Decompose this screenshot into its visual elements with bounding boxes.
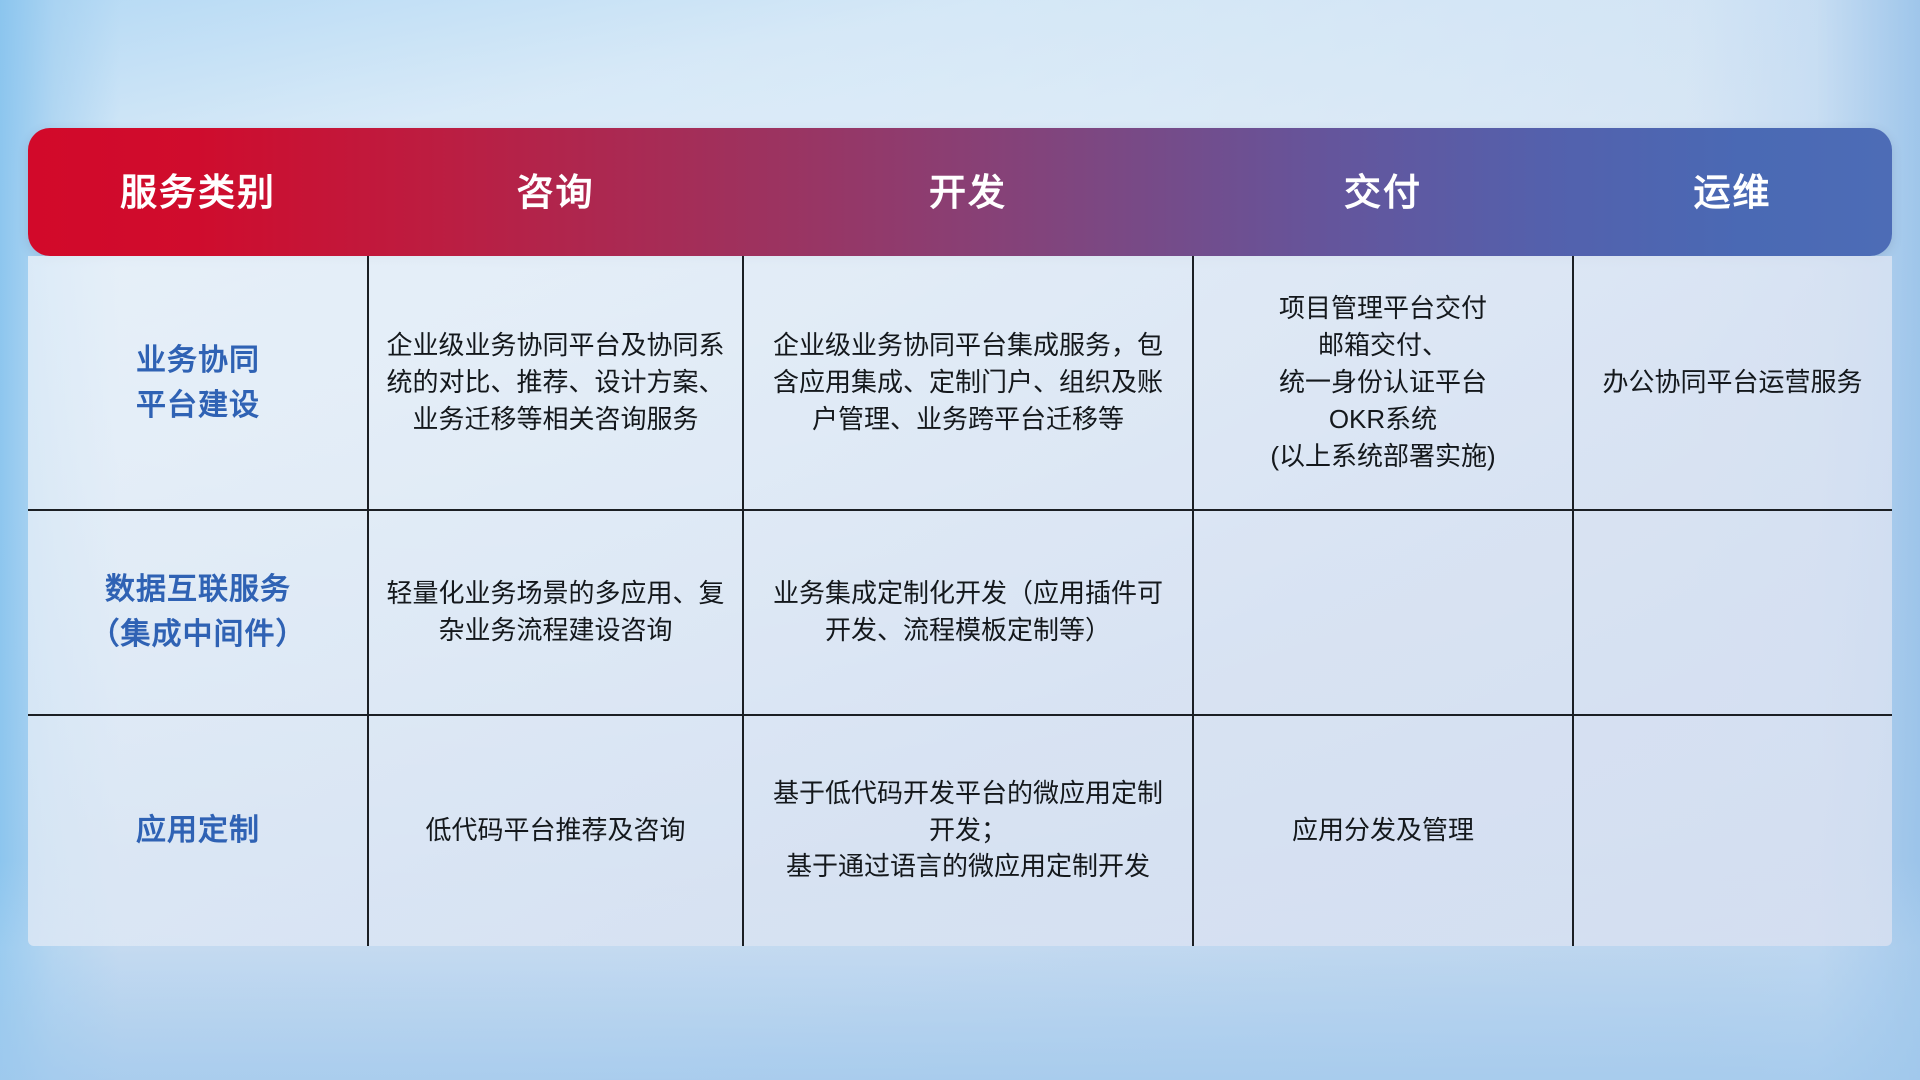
row-label-data-interconnect: 数据互联服务 （集成中间件） [28,509,368,714]
cell-r2-development: 业务集成定制化开发（应用插件可开发、流程模板定制等） [743,509,1193,714]
table-row: 业务协同 平台建设 企业级业务协同平台及协同系统的对比、推荐、设计方案、业务迁移… [28,256,1892,509]
service-matrix-table: 服务类别 咨询 开发 交付 运维 业务协同 平台建设 企业级业务协同平台及协同系… [28,128,1892,948]
cell-r3-consulting: 低代码平台推荐及咨询 [368,714,743,946]
table-row: 应用定制 低代码平台推荐及咨询 基于低代码开发平台的微应用定制开发； 基于通过语… [28,714,1892,946]
cell-r2-consulting: 轻量化业务场景的多应用、复杂业务流程建设咨询 [368,509,743,714]
cell-r3-development: 基于低代码开发平台的微应用定制开发； 基于通过语言的微应用定制开发 [743,714,1193,946]
cell-r1-delivery: 项目管理平台交付 邮箱交付、 统一身份认证平台 OKR系统 (以上系统部署实施) [1193,256,1573,509]
cell-r1-consulting: 企业级业务协同平台及协同系统的对比、推荐、设计方案、业务迁移等相关咨询服务 [368,256,743,509]
column-header-development: 开发 [743,128,1193,256]
column-header-delivery: 交付 [1193,128,1573,256]
cell-r3-delivery: 应用分发及管理 [1193,714,1573,946]
row-label-app-customization: 应用定制 [28,714,368,946]
cell-r2-operations [1573,509,1892,714]
table-body: 业务协同 平台建设 企业级业务协同平台及协同系统的对比、推荐、设计方案、业务迁移… [28,256,1892,946]
table-header-row: 服务类别 咨询 开发 交付 运维 [28,128,1892,256]
cell-r1-operations: 办公协同平台运营服务 [1573,256,1892,509]
table-row: 数据互联服务 （集成中间件） 轻量化业务场景的多应用、复杂业务流程建设咨询 业务… [28,509,1892,714]
cell-r1-development: 企业级业务协同平台集成服务，包含应用集成、定制门户、组织及账户管理、业务跨平台迁… [743,256,1193,509]
column-header-operations: 运维 [1573,128,1892,256]
cell-r3-operations [1573,714,1892,946]
column-header-category: 服务类别 [28,128,368,256]
column-header-consulting: 咨询 [368,128,743,256]
cell-r2-delivery [1193,509,1573,714]
row-label-business-collaboration: 业务协同 平台建设 [28,256,368,509]
